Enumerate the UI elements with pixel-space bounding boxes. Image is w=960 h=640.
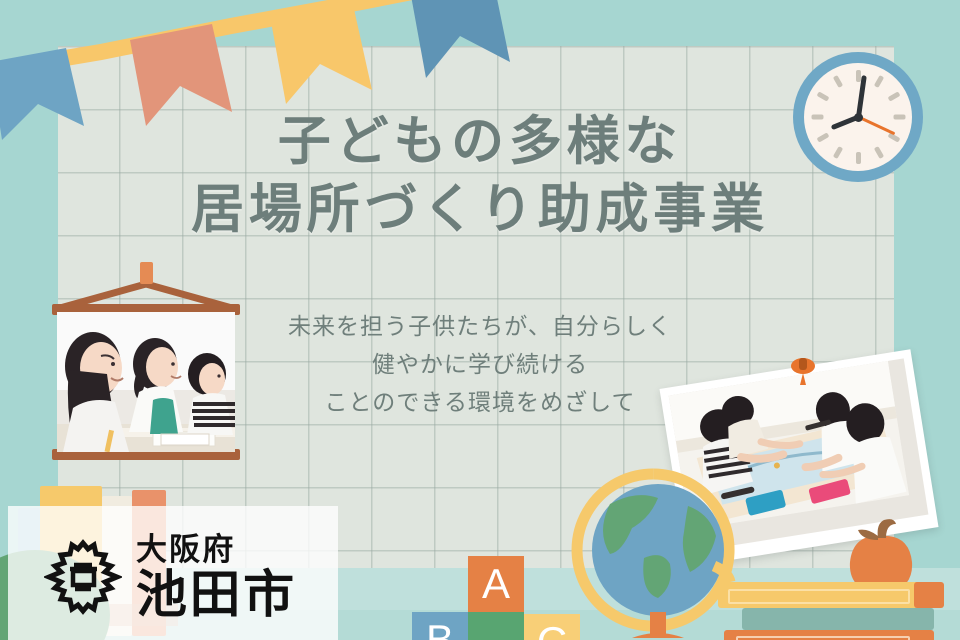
pushpin-icon xyxy=(790,356,816,386)
photo-frame-left xyxy=(52,262,240,460)
poster-title: 子どもの多様な 居場所づくり助成事業 xyxy=(0,108,960,244)
title-line-2: 居場所づくり助成事業 xyxy=(0,176,960,244)
pushpin-svg xyxy=(790,356,816,386)
city-logo: 大阪府 池田市 xyxy=(44,522,334,632)
clock-tick xyxy=(887,91,900,101)
clock-tick xyxy=(832,75,842,88)
classroom-photo-art xyxy=(57,312,235,452)
logo-city: 池田市 xyxy=(136,569,297,620)
ikeda-city-crest-icon xyxy=(44,538,122,616)
logo-text: 大阪府 池田市 xyxy=(136,534,297,620)
crest-svg xyxy=(44,538,122,616)
clock-tick xyxy=(856,70,861,82)
title-line-1: 子どもの多様な xyxy=(0,108,960,176)
classroom-photo xyxy=(57,312,235,452)
clock-tick xyxy=(873,75,883,88)
book-spine-line xyxy=(728,589,910,604)
book-stack-right xyxy=(718,582,960,640)
block-c: C xyxy=(524,614,580,640)
block-a: A xyxy=(468,556,524,612)
logo-prefecture: 大阪府 xyxy=(136,534,297,565)
block-b: B xyxy=(412,612,468,640)
abc-blocks: A B C xyxy=(420,556,610,640)
book-spine-line xyxy=(736,636,910,640)
hanging-peg-icon xyxy=(140,262,153,284)
book-orange xyxy=(724,630,934,640)
book-yellow xyxy=(718,582,930,608)
book-teal xyxy=(742,608,934,630)
block-green xyxy=(468,612,524,640)
book-yellow-end xyxy=(914,582,944,608)
clock-tick xyxy=(816,91,829,101)
poster-canvas: 子どもの多様な 居場所づくり助成事業 未来を担う子供たちが、自分らしく 健やかに… xyxy=(0,0,960,640)
